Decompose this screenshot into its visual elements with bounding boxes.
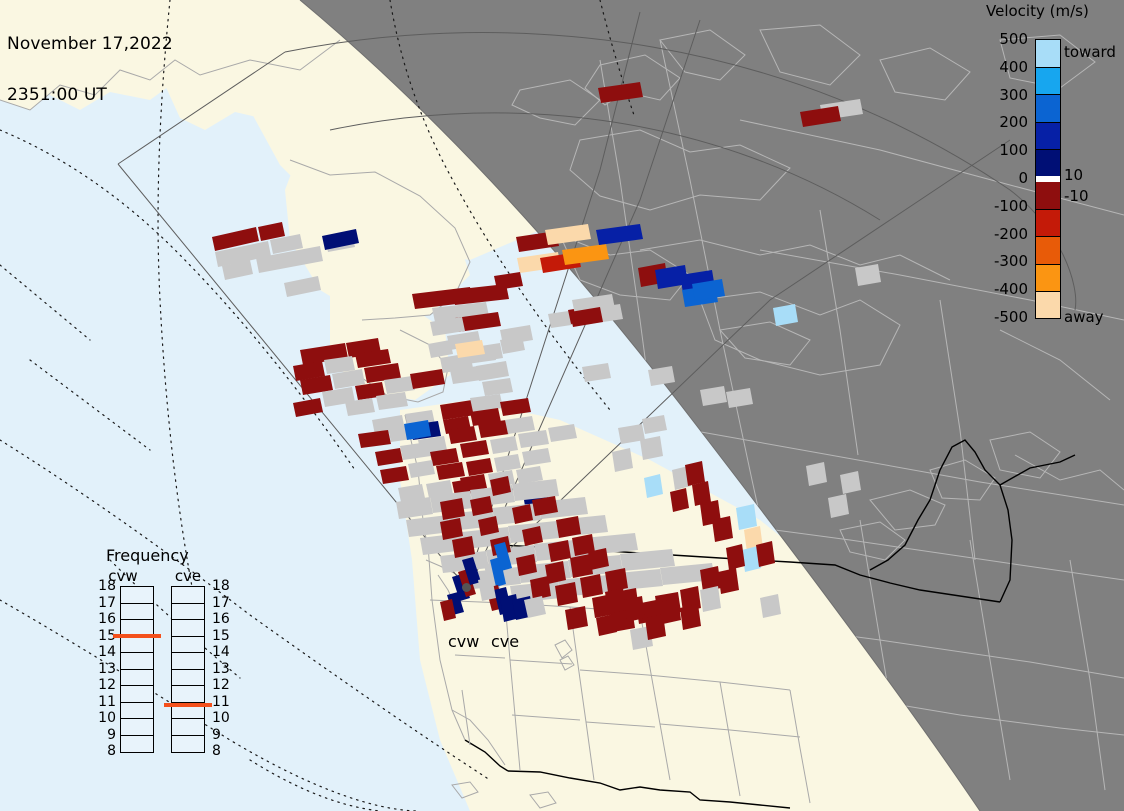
velocity-band-1 <box>1036 67 1060 94</box>
frequency-tick-cvw-18: 18 <box>92 578 116 594</box>
frequency-tick-cvw-11: 11 <box>92 694 116 710</box>
timestamp-date: November 17,2022 <box>7 36 173 53</box>
frequency-tick-cve-11: 11 <box>212 694 230 710</box>
frequency-segment <box>172 686 204 703</box>
frequency-tick-cvw-9: 9 <box>92 727 116 743</box>
frequency-segment <box>121 587 153 604</box>
frequency-tick-cvw-8: 8 <box>92 743 116 759</box>
frequency-segment <box>121 653 153 670</box>
frequency-segment <box>172 653 204 670</box>
frequency-segment <box>172 620 204 637</box>
velocity-band-10 <box>1036 291 1060 318</box>
frequency-segment <box>172 736 204 753</box>
frequency-segment <box>172 670 204 687</box>
frequency-tick-cvw-13: 13 <box>92 661 116 677</box>
frequency-tick-cvw-17: 17 <box>92 595 116 611</box>
frequency-tick-cve-10: 10 <box>212 710 230 726</box>
frequency-tick-cvw-12: 12 <box>92 677 116 693</box>
frequency-segment <box>121 604 153 621</box>
velocity-band-3 <box>1036 122 1060 149</box>
near-zero-positive-label: 10 <box>1064 166 1083 184</box>
velocity-tick--400: -400 <box>994 280 1028 298</box>
frequency-tick-cve-16: 16 <box>212 611 230 627</box>
velocity-tick-400: 400 <box>999 58 1028 76</box>
timestamp-time: 2351:00 UT <box>7 87 173 104</box>
toward-label: toward <box>1064 43 1116 61</box>
frequency-tick-cve-9: 9 <box>212 727 221 743</box>
frequency-marker-cve <box>164 703 212 707</box>
frequency-segment <box>172 587 204 604</box>
frequency-tick-cve-13: 13 <box>212 661 230 677</box>
frequency-marker-cvw <box>113 634 161 638</box>
frequency-tick-cve-17: 17 <box>212 595 230 611</box>
frequency-scale-cve <box>171 586 205 753</box>
frequency-segment <box>121 686 153 703</box>
frequency-segment <box>121 637 153 654</box>
velocity-band-6 <box>1036 182 1060 209</box>
near-zero-negative-label: -10 <box>1064 187 1089 205</box>
frequency-legend-title: Frequency <box>106 546 189 565</box>
velocity-tick-500: 500 <box>999 30 1028 48</box>
velocity-tick--200: -200 <box>994 225 1028 243</box>
away-label: away <box>1064 308 1104 326</box>
frequency-segment <box>121 703 153 720</box>
velocity-tick-300: 300 <box>999 86 1028 104</box>
velocity-tick-200: 200 <box>999 113 1028 131</box>
frequency-segment <box>121 736 153 753</box>
timestamp-block: November 17,2022 2351:00 UT <box>7 2 173 138</box>
velocity-band-9 <box>1036 264 1060 291</box>
velocity-colorbar-side-labels: toward10-10away <box>1064 33 1124 323</box>
frequency-tick-cve-18: 18 <box>212 578 230 594</box>
frequency-segment <box>172 719 204 736</box>
frequency-segment <box>172 637 204 654</box>
site-label-cve: cve <box>491 632 519 651</box>
velocity-tick--500: -500 <box>994 308 1028 326</box>
frequency-tick-cve-14: 14 <box>212 644 230 660</box>
velocity-colorbar <box>1035 39 1061 319</box>
velocity-band-4 <box>1036 149 1060 176</box>
frequency-tick-cvw-16: 16 <box>92 611 116 627</box>
velocity-colorbar-ticks: 5004003002001000-100-200-300-400-500 <box>980 33 1032 323</box>
velocity-tick-0: 0 <box>1018 169 1028 187</box>
radar-site-marker <box>462 583 471 592</box>
velocity-band-7 <box>1036 209 1060 236</box>
site-label-cvw: cvw <box>448 632 479 651</box>
velocity-legend-title: Velocity (m/s) <box>986 2 1124 20</box>
frequency-tick-cve-12: 12 <box>212 677 230 693</box>
frequency-tick-cvw-10: 10 <box>92 710 116 726</box>
frequency-tick-cve-8: 8 <box>212 743 221 759</box>
velocity-band-8 <box>1036 236 1060 263</box>
frequency-ticks-cvw: 18171615141312111098 <box>92 586 118 753</box>
velocity-legend: Velocity (m/s) 5004003002001000-100-200-… <box>980 0 1124 340</box>
velocity-tick--300: -300 <box>994 252 1028 270</box>
radar-fan-plot: November 17,2022 2351:00 UT cvw cve Velo… <box>0 0 1124 811</box>
frequency-column-label-cve: cve <box>170 567 206 585</box>
frequency-segment <box>172 604 204 621</box>
frequency-tick-cve-15: 15 <box>212 628 230 644</box>
velocity-band-0 <box>1036 40 1060 67</box>
frequency-segment <box>121 670 153 687</box>
frequency-segment <box>121 719 153 736</box>
velocity-band-2 <box>1036 94 1060 121</box>
frequency-scale-cvw <box>120 586 154 753</box>
frequency-ticks-cve: 18171615141312111098 <box>210 586 236 753</box>
velocity-tick-100: 100 <box>999 141 1028 159</box>
frequency-tick-cvw-14: 14 <box>92 644 116 660</box>
frequency-legend: Frequency cvw 18171615141312111098 cve 1… <box>92 546 248 801</box>
velocity-tick--100: -100 <box>994 197 1028 215</box>
